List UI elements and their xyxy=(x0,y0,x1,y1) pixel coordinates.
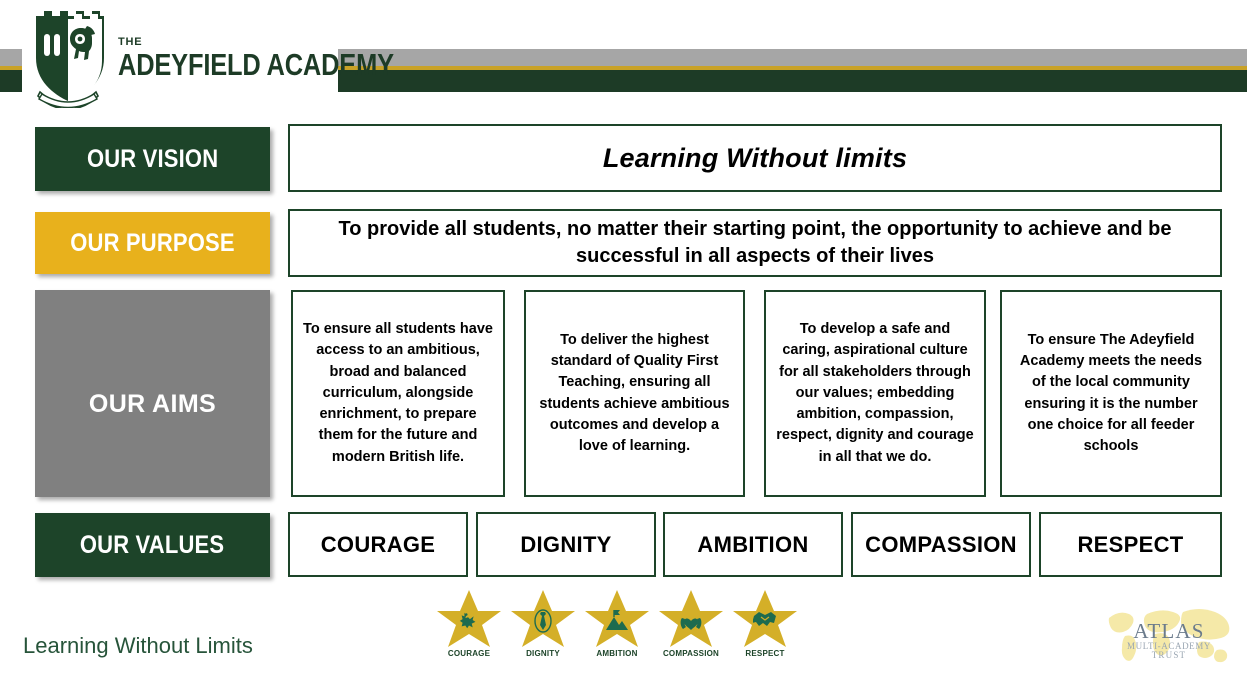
our-vision-content: Learning Without limits xyxy=(288,124,1222,192)
our-vision-label-text: OUR VISION xyxy=(87,145,218,174)
value-box-ambition: AMBITION xyxy=(663,512,843,577)
star-label-dignity: DIGNITY xyxy=(506,649,580,658)
school-logo: THE ADEYFIELD ACADEMY xyxy=(24,6,344,110)
atlas-logo-main-text: ATLAS xyxy=(1103,620,1235,642)
our-vision-label: OUR VISION xyxy=(35,127,270,191)
lion-rampant-icon xyxy=(458,609,480,631)
logo-school-name: ADEYFIELD ACADEMY xyxy=(118,49,394,80)
star-badge-ambition: AMBITION xyxy=(580,589,654,669)
star-badge-respect: RESPECT xyxy=(728,589,802,669)
star-badge-courage: COURAGE xyxy=(432,589,506,669)
value-box-courage: COURAGE xyxy=(288,512,468,577)
value-text-compassion: COMPASSION xyxy=(865,532,1017,558)
aim-box-1: To ensure all students have access to an… xyxy=(291,290,505,497)
handshake-icon xyxy=(753,609,777,629)
our-aims-label: OUR AIMS xyxy=(35,290,270,497)
atlas-trust-logo: ATLAS MULTI-ACADEMY TRUST xyxy=(1103,604,1235,672)
value-text-respect: RESPECT xyxy=(1077,532,1183,558)
aim-box-4: To ensure The Adeyfield Academy meets th… xyxy=(1000,290,1222,497)
aim-box-3: To develop a safe and caring, aspiration… xyxy=(764,290,986,497)
value-text-courage: COURAGE xyxy=(321,532,436,558)
aim-text-1: To ensure all students have access to an… xyxy=(293,319,503,468)
aim-text-2: To deliver the highest standard of Quali… xyxy=(526,330,743,458)
atlas-logo-sub2-text: TRUST xyxy=(1103,651,1235,660)
aim-text-4: To ensure The Adeyfield Academy meets th… xyxy=(1002,330,1220,458)
our-purpose-label: OUR PURPOSE xyxy=(35,212,270,274)
value-text-dignity: DIGNITY xyxy=(520,532,611,558)
aim-text-3: To develop a safe and caring, aspiration… xyxy=(766,319,984,468)
our-aims-label-text: OUR AIMS xyxy=(89,390,216,419)
value-box-dignity: DIGNITY xyxy=(476,512,656,577)
value-text-ambition: AMBITION xyxy=(697,532,808,558)
star-label-courage: COURAGE xyxy=(432,649,506,658)
value-box-compassion: COMPASSION xyxy=(851,512,1031,577)
vision-statement: Learning Without limits xyxy=(603,143,907,174)
star-label-compassion: COMPASSION xyxy=(654,649,728,658)
star-label-respect: RESPECT xyxy=(728,649,802,658)
mountain-flag-icon xyxy=(605,609,629,631)
castle-shield-crest-icon xyxy=(24,8,112,108)
star-badge-compassion: COMPASSION xyxy=(654,589,728,669)
our-purpose-label-text: OUR PURPOSE xyxy=(70,229,235,258)
purpose-statement: To provide all students, no matter their… xyxy=(290,216,1220,270)
necktie-icon xyxy=(533,609,553,633)
our-values-label: OUR VALUES xyxy=(35,513,270,577)
star-badge-dignity: DIGNITY xyxy=(506,589,580,669)
our-values-label-text: OUR VALUES xyxy=(80,531,224,560)
heart-in-hands-icon xyxy=(679,609,703,631)
our-purpose-content: To provide all students, no matter their… xyxy=(288,209,1222,277)
values-star-badges: COURAGE DIGNITY AMBITION xyxy=(432,589,802,669)
aim-box-2: To deliver the highest standard of Quali… xyxy=(524,290,745,497)
value-box-respect: RESPECT xyxy=(1039,512,1222,577)
star-label-ambition: AMBITION xyxy=(580,649,654,658)
footer-tagline: Learning Without Limits xyxy=(23,633,253,659)
